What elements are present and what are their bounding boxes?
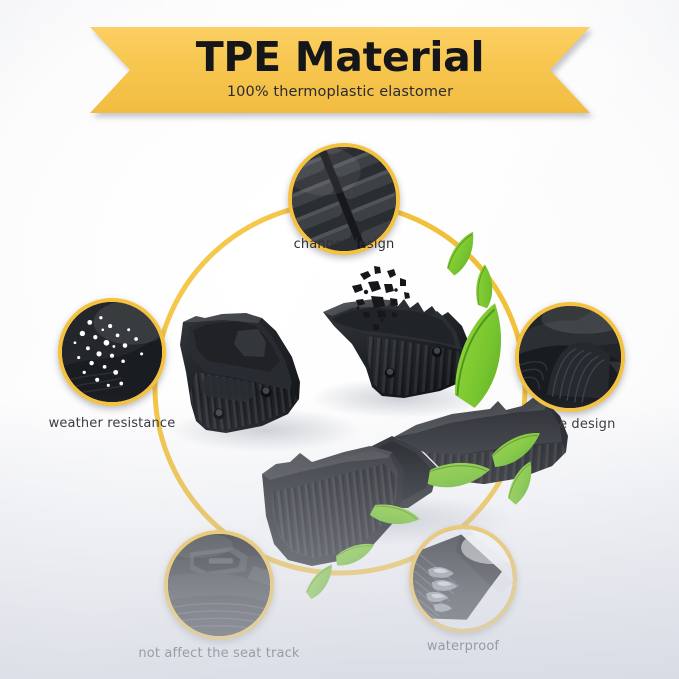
infographic-canvas: TPE Material 100% thermoplastic elastome…: [0, 0, 679, 679]
callout-channel-design[interactable]: channel design: [288, 143, 400, 255]
callout-label: channel design: [294, 237, 395, 252]
callout-seat-track[interactable]: not affect the seat track: [164, 530, 274, 640]
leaf-icon: [498, 461, 543, 506]
callout-photo-waterproof: [409, 525, 517, 633]
callout-label: weather resistance: [49, 416, 176, 431]
callout-photo-bridge-design: [515, 302, 625, 412]
leaf-icon: [302, 565, 337, 600]
callout-weather-resistance[interactable]: weather resistance: [58, 298, 166, 406]
callout-photo-seat-track: [164, 530, 274, 640]
callout-label: not affect the seat track: [138, 646, 299, 661]
leaf-icon: [333, 534, 374, 575]
callout-photo-weather-resistance: [58, 298, 166, 406]
leaf-icon: [461, 264, 508, 311]
leaf-icon: [439, 232, 484, 277]
callout-bridge-design[interactable]: bridge design: [515, 302, 625, 412]
callout-waterproof[interactable]: waterproof: [409, 525, 517, 633]
leaf-icon: [423, 441, 490, 508]
callout-label: bridge design: [525, 417, 616, 432]
callout-label: waterproof: [427, 639, 499, 654]
